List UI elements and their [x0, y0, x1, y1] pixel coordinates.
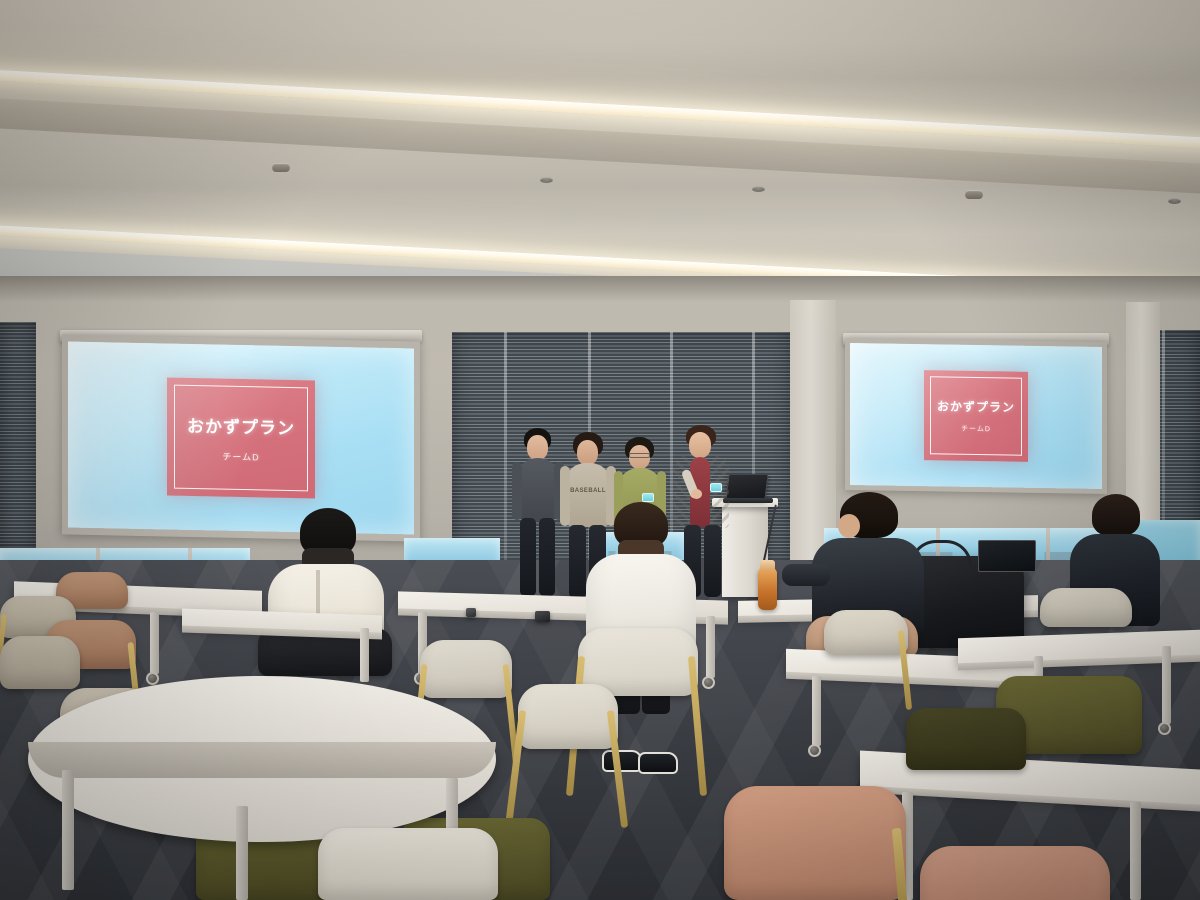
table-leg [706, 616, 715, 678]
ceiling-spot-icon [752, 186, 765, 192]
laptop-screen[interactable] [725, 474, 768, 500]
chair-right-salmon-front[interactable] [724, 786, 906, 900]
arm-extended-shape [782, 564, 830, 586]
table-caster [702, 676, 715, 689]
arm-left [512, 462, 522, 520]
chair-olive-right-mid[interactable] [906, 708, 1026, 770]
table-caster [1158, 722, 1171, 735]
head [689, 432, 711, 458]
small-device-on-table[interactable] [466, 608, 476, 617]
shirt-label: BASEBALL [569, 488, 607, 494]
table-leg [1162, 646, 1171, 724]
glasses-icon [629, 453, 650, 458]
slide-inner-border [174, 385, 308, 492]
arm-left [560, 466, 570, 526]
sprinkler-icon [272, 163, 290, 172]
table-leg [360, 628, 369, 682]
wall-shadow [0, 276, 1200, 302]
chair-right-cream[interactable] [824, 610, 908, 676]
desk-monitor [978, 540, 1036, 572]
window-blinds-left [0, 322, 36, 552]
drink-bottle[interactable] [758, 568, 777, 610]
chair-oval-front[interactable] [318, 828, 498, 900]
ear-cheek [838, 514, 860, 538]
bottle-cap [760, 560, 775, 570]
table-leg [812, 676, 821, 746]
chair-far-right[interactable] [1040, 588, 1132, 646]
slide-card-right: おかずプラン チームD [924, 370, 1028, 462]
table-leg [1130, 802, 1141, 900]
table-leg [236, 806, 248, 900]
name-badge [710, 483, 722, 492]
table-caster [146, 672, 159, 685]
laptop-base[interactable] [723, 498, 773, 503]
table-leg [150, 612, 159, 674]
leg-left [520, 518, 536, 596]
phone-on-table[interactable] [535, 611, 550, 622]
leg-right [539, 518, 555, 596]
sprinkler-icon [965, 190, 983, 199]
ceiling-spot-icon [1168, 198, 1181, 204]
slide-inner-border [930, 376, 1022, 455]
head [577, 440, 598, 465]
room-photo-scene: おかずプラン チームD おかずプラン チームD [0, 0, 1200, 900]
projection-screen-right: おかずプラン チームD [845, 338, 1107, 494]
leg-right [704, 525, 721, 597]
presenter-1 [512, 428, 564, 596]
ceiling-spot-icon [540, 177, 553, 183]
head [527, 435, 548, 460]
name-badge [642, 493, 654, 502]
chair-right-salmon-front-2[interactable] [920, 846, 1110, 900]
table-leg [62, 770, 74, 890]
table-caster [808, 744, 821, 757]
slide-card-left: おかずプラン チームD [167, 378, 315, 499]
hair [1092, 494, 1140, 536]
table-oval-edge [28, 742, 496, 778]
shoe-right [638, 752, 678, 774]
ceiling [0, 0, 1200, 300]
hand [691, 489, 702, 499]
slide-surface-right: おかずプラン チームD [850, 343, 1102, 489]
slide-surface-left: おかずプラン チームD [68, 342, 414, 535]
chair-center[interactable] [518, 684, 618, 780]
jacket-right [708, 456, 729, 528]
